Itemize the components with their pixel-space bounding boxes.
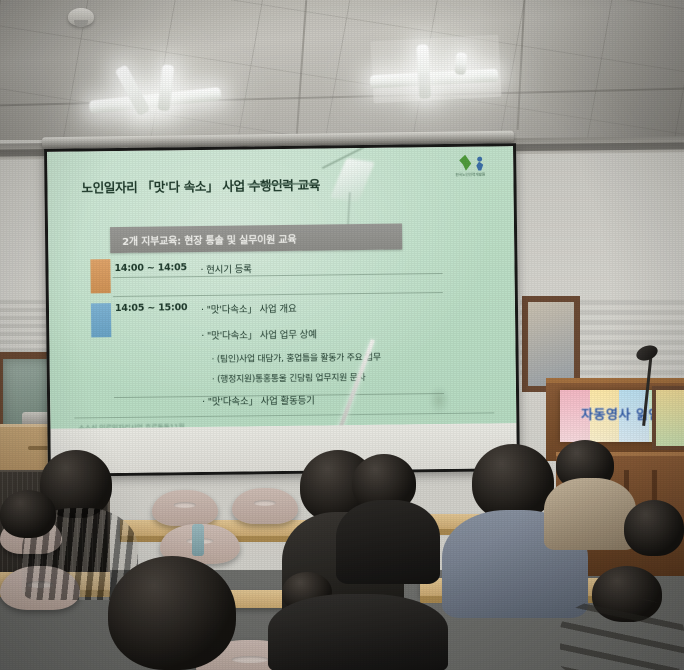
screen-blank-area	[50, 423, 517, 474]
agenda-item: · "맛'다속소」 사업 업무 상예	[201, 327, 317, 342]
presentation-slide: 노인일자리 「맛'다 속소」 사업 수행인력 교육 한국노인인력개발원 2개 지…	[47, 146, 516, 429]
lecture-room-photo: 자동영사 읽인 노인일자리 「맛'다 속소」 사업 수행인력 교육 한국노인인력…	[0, 0, 684, 670]
accent-block-blue	[91, 303, 111, 337]
slide-title: 노인일자리 「맛'다 속소」 사업 수행인력 교육	[81, 175, 320, 197]
organization-logo: 한국노인인력개발원	[451, 154, 491, 180]
ceiling-light-right	[369, 45, 500, 108]
logo-caption: 한국노인인력개발원	[453, 172, 487, 177]
slide-section-bar: 2개 지부교육: 현장 통솔 및 실무이원 교육	[110, 224, 402, 254]
water-bottle[interactable]	[192, 524, 204, 556]
chair[interactable]	[232, 488, 298, 524]
right-window-far	[652, 386, 684, 450]
slide-section-label: 2개 지부교육: 현장 통솔 및 실무이원 교육	[122, 231, 296, 248]
smoke-detector-icon	[68, 8, 94, 26]
agenda-time-1: 14:00 ~ 14:05	[114, 262, 187, 274]
chair[interactable]	[152, 490, 218, 526]
agenda-item: · "맛'다속소」 사업 활동등기	[202, 393, 315, 408]
projection-screen: 노인일자리 「맛'다 속소」 사업 수행인력 교육 한국노인인력개발원 2개 지…	[44, 143, 520, 477]
screen-smudge	[428, 385, 450, 415]
agenda-item: · 현시기 등록	[200, 261, 251, 276]
agenda-item: · "맛'다속소」 사업 개요	[201, 301, 297, 316]
accent-block-orange	[90, 259, 110, 293]
agenda-time-2: 14:05 ~ 15:00	[115, 302, 188, 314]
agenda-subitem: · (팀인)사업 대담가, 홍업틈을 활동가 주요 업무	[212, 350, 381, 365]
agenda-subitem: · (행정지원)통홍통울 긴담림 업무지원 문자	[212, 370, 366, 385]
